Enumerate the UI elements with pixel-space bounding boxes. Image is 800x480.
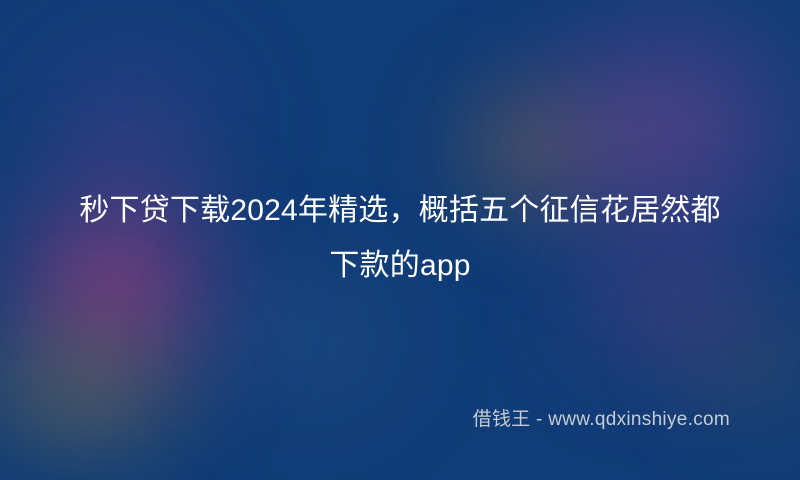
site-watermark: 借钱王 - www.qdxinshiye.com [473,406,730,434]
banner-canvas: 秒下贷下载2024年精选，概括五个征信花居然都 下款的app 借钱王 - www… [0,0,800,480]
banner-title: 秒下贷下载2024年精选，概括五个征信花居然都 下款的app [40,183,760,293]
background-blob-olive-lower-left [0,300,220,480]
